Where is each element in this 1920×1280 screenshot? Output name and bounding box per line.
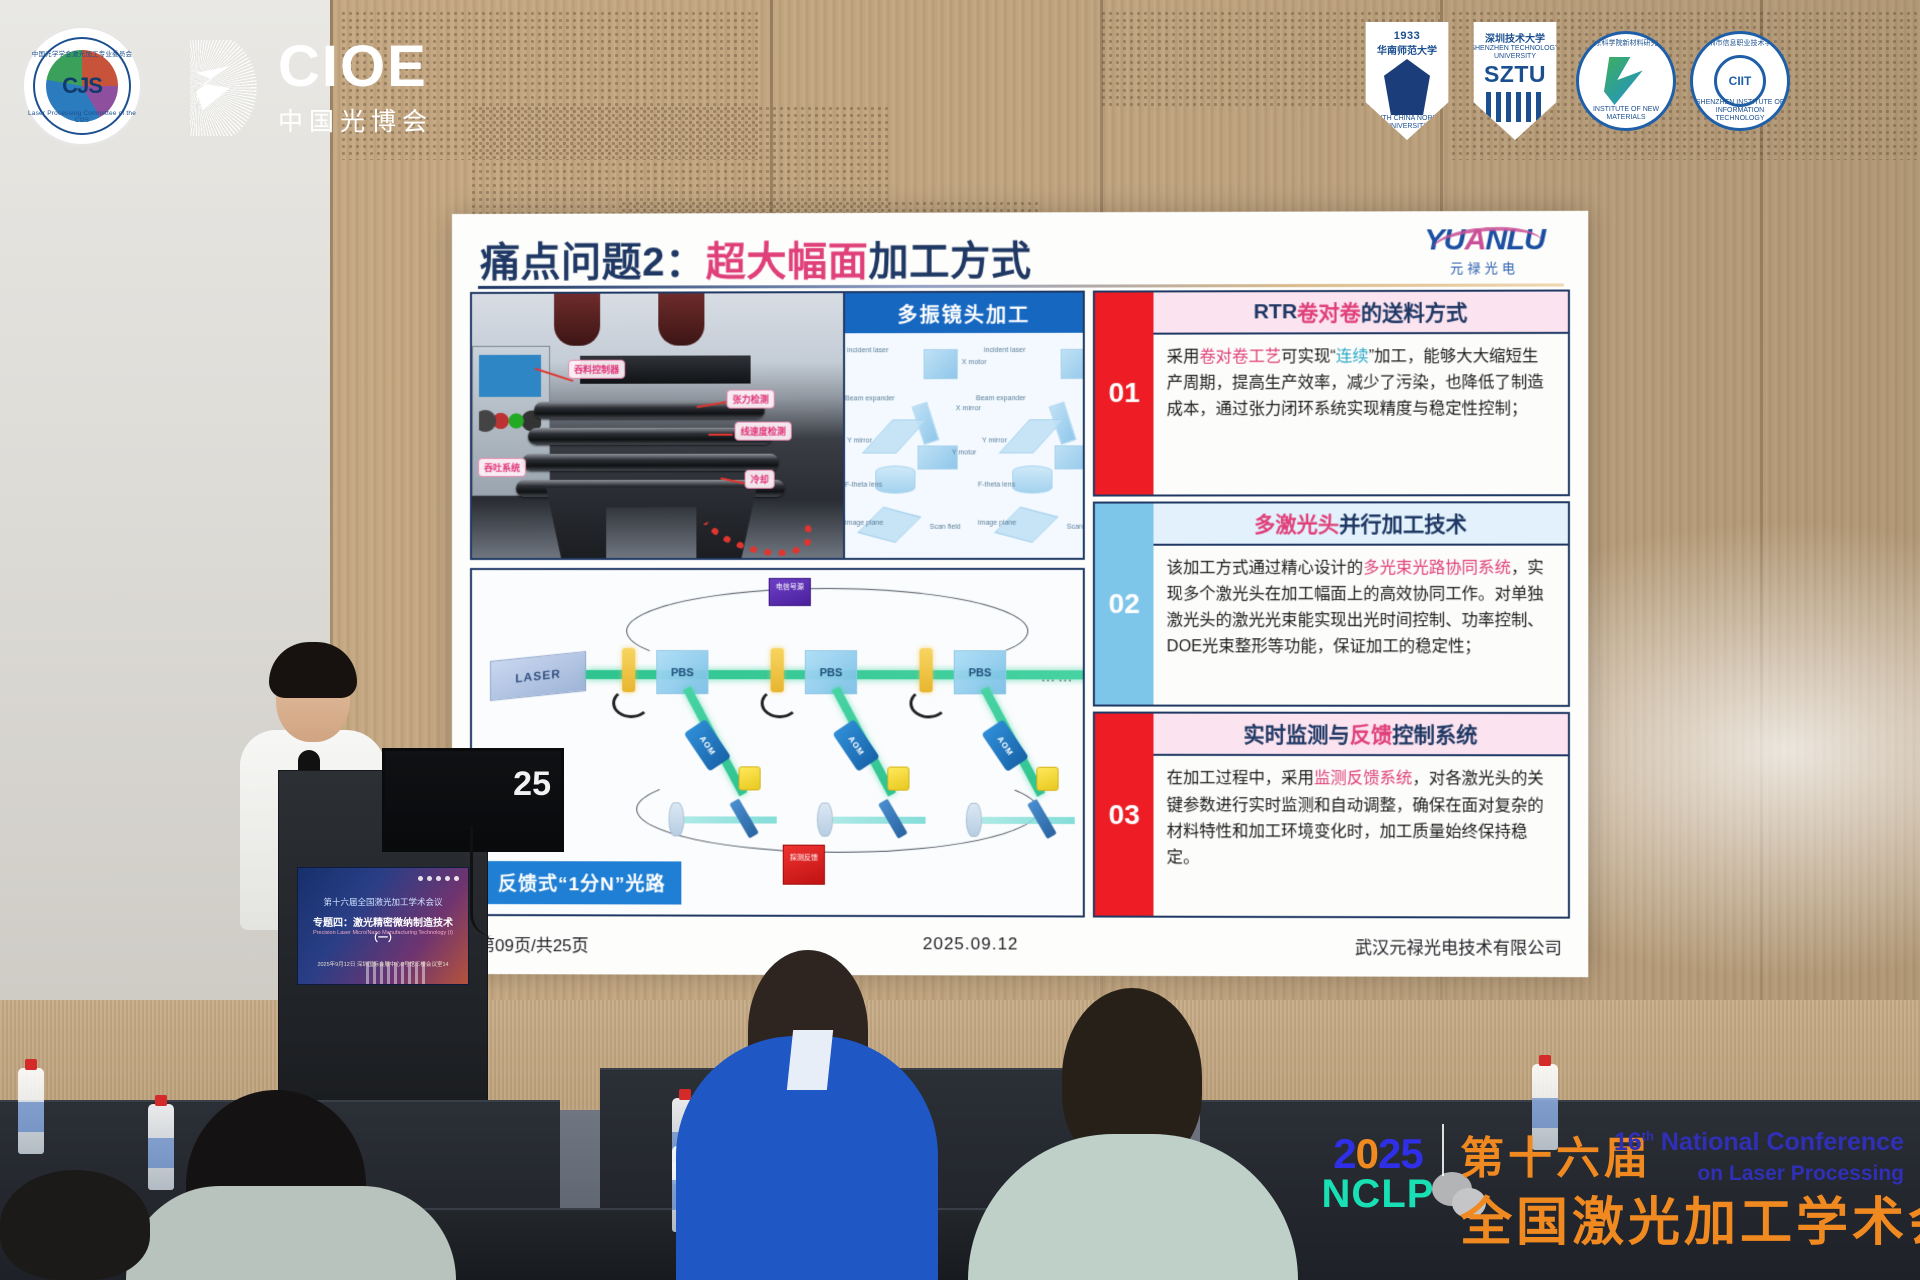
- rtr-machine-photo: 吞料控制器 张力检测 线速度检测 吞吐系统 冷却: [472, 293, 843, 558]
- projection-screen: 痛点问题2：超大幅面加工方式 YUANLU 元禄光电: [452, 211, 1588, 977]
- inm-en-name: INSTITUTE OF NEW MATERIALS: [1578, 106, 1674, 122]
- scanner-label-y-mirror: Y mirror: [982, 437, 1007, 444]
- sztu-abbr: SZTU: [1484, 61, 1546, 88]
- feature-text-01: 采用卷对卷工艺可实现“连续”加工，能够大大缩短生产周期，提高生产效率，减少了污染…: [1153, 334, 1567, 494]
- scanner-label-image-plane: image plane: [978, 520, 1016, 527]
- cioe-mark-icon: [190, 40, 264, 136]
- slide-right-column: 01 RTR卷对卷的送料方式 采用卷对卷工艺可实现“连续”加工，能够大大缩短生产…: [1093, 290, 1570, 919]
- scanner-label-incident-laser: incident laser: [984, 347, 1026, 354]
- photo-label-speed-detect: 线速度检测: [735, 422, 792, 441]
- university-logo-ciit: 深圳市信息职业技术学院 CIIT SHENZHEN INSTITUTE OF I…: [1690, 31, 1790, 131]
- cjs-logo-arc-bottom: Laser Processing Committee of the COS: [26, 110, 138, 124]
- monitor-slide-number: 25: [513, 765, 551, 804]
- university-logo-scnu: 1933 华南师范大学 SOUTH CHINA NORMAL UNIVERSIT…: [1360, 22, 1454, 140]
- audience-member-collar: [787, 1030, 833, 1090]
- scanner-label-x-motor: X motor: [962, 359, 987, 366]
- slide-company-name: 武汉元禄光电技术有限公司: [1355, 933, 1562, 959]
- photo-label-tension-detect: 张力检测: [727, 390, 775, 409]
- water-bottle: [18, 1068, 44, 1154]
- watermark-en-line2: on Laser Processing: [1697, 1162, 1904, 1186]
- optics-caption: 反馈式“1分N”光路: [482, 861, 682, 904]
- nclp-year: 2025: [1318, 1134, 1438, 1174]
- sztu-stripes-icon: [1486, 92, 1544, 122]
- photo-label-cooling: 冷却: [745, 470, 775, 489]
- scanner-label-image-plane: image plane: [845, 520, 883, 527]
- pbs-cube-2: PBS: [805, 650, 857, 694]
- ciit-cn-name: 深圳市信息职业技术学院: [1692, 40, 1788, 48]
- presenter-hair: [269, 642, 357, 698]
- presentation-slide: 痛点问题2：超大幅面加工方式 YUANLU 元禄光电: [452, 211, 1588, 977]
- slide-title-part2: 加工方式: [868, 239, 1031, 284]
- scnu-en-name: SOUTH CHINA NORMAL UNIVERSITY: [1360, 115, 1454, 131]
- podium-conference-name: 第十六届全国激光加工学术会议: [304, 896, 462, 908]
- signal-source-box: 电信号源: [769, 578, 811, 606]
- scanner-panel-header: 多振镜头加工: [845, 293, 1083, 334]
- machine-photo-panel: 吞料控制器 张力检测 线速度检测 吞吐系统 冷却 多振镜头加工: [470, 291, 1085, 560]
- water-bottle: [148, 1104, 174, 1190]
- feature-text-03: 在加工过程中，采用监测反馈系统，对各激光头的关键参数进行实时监测和自动调整，确保…: [1153, 756, 1567, 916]
- scnu-emblem-icon: [1384, 59, 1430, 115]
- audience-member-head: [0, 1170, 150, 1280]
- nclp-logo: 2025 NCLP: [1318, 1134, 1438, 1214]
- feature-item-02: 02 多激光头并行加工技术 该加工方式通过精心设计的多光束光路协同系统，实现多个…: [1093, 501, 1570, 707]
- audience-member-shoulders: [126, 1186, 456, 1280]
- detector-1: [739, 766, 761, 790]
- ciit-en-name: SHENZHEN INSTITUTE OF INFORMATION TECHNO…: [1692, 99, 1788, 123]
- scanner-label-y-mirror: Y mirror: [847, 438, 872, 445]
- podium-session-date: 2025年9月12日 深圳国际会展中心9号馆三楼会议室14: [302, 960, 464, 968]
- feature-text-02: 该加工方式通过精心设计的多光束光路协同系统，实现多个激光头在加工幅面上的高效协同…: [1153, 545, 1567, 705]
- beam-continuation-ellipsis: ……: [1040, 668, 1074, 685]
- scanner-label-ftheta-lens: F-theta lens: [978, 482, 1015, 489]
- yuanlu-company-logo: YUANLU 元禄光电: [1405, 223, 1563, 278]
- laser-source-box: LASER: [490, 651, 586, 701]
- university-logo-sztu: 深圳技术大学 SHENZHEN TECHNOLOGY UNIVERSITY SZ…: [1468, 22, 1562, 140]
- scanner-label-scan-field: Scan field: [930, 524, 961, 531]
- detector-feedback-box: 探测反馈: [783, 845, 825, 885]
- cable: [470, 826, 492, 936]
- scanner-diagram: incident laser X motor Beam expander X m…: [845, 333, 1083, 558]
- lens-3: [966, 803, 982, 837]
- scanner-label-y-motor: Y motor: [952, 449, 977, 456]
- feature-header-02: 多激光头并行加工技术: [1153, 503, 1567, 545]
- feature-item-03: 03 实时监测与反馈控制系统 在加工过程中，采用监测反馈系统，对各激光头的关键参…: [1093, 712, 1570, 919]
- cioe-logo-cn: 中国光博会: [278, 102, 433, 138]
- rotation-arrow-icon: [761, 688, 799, 718]
- feature-item-01: 01 RTR卷对卷的送料方式 采用卷对卷工艺可实现“连续”加工，能够大大缩短生产…: [1093, 290, 1570, 497]
- waveplate-icon: [622, 648, 635, 692]
- feature-number-03: 03: [1095, 714, 1154, 916]
- lens-2: [817, 803, 833, 837]
- inm-cn-name: 广东科学院新材料研究所: [1578, 40, 1674, 48]
- waveplate-icon: [771, 648, 784, 692]
- cjs-logo-arc-top: 中国光学学会激光加工专业委员会: [26, 48, 138, 58]
- detector-3: [1036, 767, 1058, 791]
- university-logo-inm: 广东科学院新材料研究所 INSTITUTE OF NEW MATERIALS: [1576, 31, 1676, 131]
- slide-title-part1: 痛点问题2：: [480, 240, 706, 285]
- nclp-acronym: NCLP: [1318, 1174, 1438, 1214]
- sztu-en-name: SHENZHEN TECHNOLOGY UNIVERSITY: [1468, 45, 1562, 61]
- photo-label-winding-system: 吞吐系统: [478, 458, 526, 477]
- rotation-arrow-icon: [909, 688, 947, 718]
- conference-watermark: 2025 NCLP 第十六届 全国激光加工学术会议 16th National …: [1310, 1118, 1910, 1278]
- watermark-en-line1: 16th National Conference: [1614, 1128, 1904, 1157]
- scanner-label-beam-expander: Beam expander: [976, 395, 1026, 402]
- scanner-label-x-mirror: X mirror: [956, 405, 981, 412]
- yuanlu-logo-cn: 元禄光电: [1450, 257, 1519, 276]
- pbs-cube-3: PBS: [954, 650, 1006, 694]
- cjs-committee-logo: 中国光学学会激光加工专业委员会 CJS Laser Processing Com…: [22, 26, 142, 146]
- pbs-cube-1: PBS: [656, 650, 708, 694]
- banner-logo-strip: 中国光学学会激光加工专业委员会 CJS Laser Processing Com…: [0, 0, 1920, 180]
- cjs-logo-abbr: CJS: [62, 73, 102, 99]
- university-logo-group: 1933 华南师范大学 SOUTH CHINA NORMAL UNIVERSIT…: [1360, 22, 1790, 140]
- rotation-arrow-icon: [612, 688, 650, 718]
- scnu-year: 1933: [1394, 30, 1420, 42]
- slide-body: 吞料控制器 张力检测 线速度检测 吞吐系统 冷却 多振镜头加工: [470, 290, 1570, 919]
- photo-label-feed-controller: 吞料控制器: [568, 360, 625, 379]
- scanner-label-scan-field: Scan field: [1067, 524, 1085, 531]
- watermark-divider: [1442, 1124, 1444, 1176]
- podium-logo-dots: [416, 874, 462, 882]
- conference-room-scene: 中国光学学会激光加工专业委员会 CJS Laser Processing Com…: [0, 0, 1920, 1280]
- slide-header: 痛点问题2：超大幅面加工方式 YUANLU 元禄光电: [470, 221, 1570, 292]
- slide-title-highlight: 超大幅面: [706, 240, 869, 285]
- podium-session-subtitle: Precision Laser Micro/Nano Manufacturing…: [302, 930, 464, 936]
- watermark-cn-line2: 全国激光加工学术会议: [1460, 1180, 1920, 1255]
- lens-1: [668, 802, 684, 836]
- slide-title: 痛点问题2：超大幅面加工方式: [480, 228, 1032, 287]
- feature-number-02: 02: [1095, 503, 1154, 705]
- scanner-label-incident-laser: incident laser: [847, 347, 888, 354]
- feature-header-03: 实时监测与反馈控制系统: [1153, 714, 1567, 757]
- scanner-label-beam-expander: Beam expander: [845, 395, 895, 402]
- slide-date: 2025.09.12: [589, 933, 1355, 955]
- feature-number-01: 01: [1095, 292, 1154, 494]
- cioe-logo-en: CIOE: [278, 38, 433, 96]
- detector-2: [887, 767, 909, 791]
- scnu-cn-name: 华南师范大学: [1377, 42, 1437, 57]
- slide-page-number: 第09页/共25页: [478, 931, 589, 956]
- scanner-label-ftheta-lens: F-theta lens: [845, 482, 882, 489]
- waveplate-icon: [920, 648, 933, 692]
- inm-swoosh-icon: [1604, 57, 1648, 105]
- sztu-cn-name: 深圳技术大学: [1485, 30, 1545, 45]
- optics-beam-split-panel: 电信号源 探测反馈 LASER PBS AOM: [470, 568, 1085, 918]
- cioe-logo: CIOE 中国光博会: [190, 38, 433, 138]
- podium-display: 第十六届全国激光加工学术会议 专题四：激光精密微纳制造技术（一） Precisi…: [297, 867, 469, 985]
- podium-session-title: 专题四：激光精密微纳制造技术（一）: [302, 914, 464, 944]
- galvo-scanner-panel: 多振镜头加工 incident laser X motor: [843, 293, 1083, 558]
- slide-footer: 第09页/共25页 2025.09.12 武汉元禄光电技术有限公司: [478, 926, 1562, 963]
- feature-header-01: RTR卷对卷的送料方式: [1153, 292, 1567, 335]
